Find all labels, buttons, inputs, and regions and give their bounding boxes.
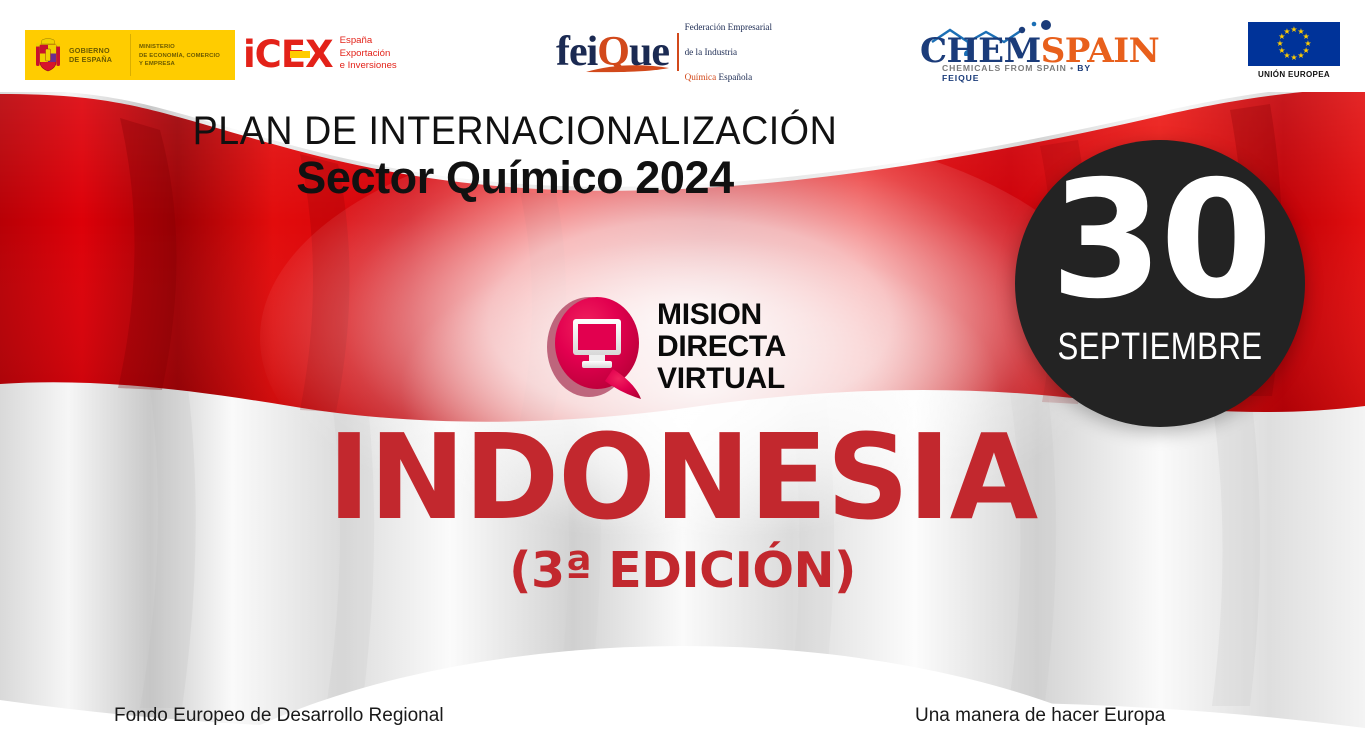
feique-wordmark: feiQue <box>556 31 669 73</box>
feique-swoosh-icon <box>584 63 694 75</box>
eu-star-icon: ★ <box>1290 54 1297 62</box>
country-edition: (3ª EDICIÓN) <box>0 542 1365 599</box>
union-europea-logo: ★★★★★★★★★★★★ UNIÓN EUROPEA <box>1248 22 1340 79</box>
date-month: SEPTIEMBRE <box>1041 326 1279 369</box>
eu-star-icon: ★ <box>1276 40 1283 48</box>
headline-block: PLAN DE INTERNACIONALIZACIÓN Sector Quím… <box>0 110 1030 203</box>
gobierno-de-espana-logo: GOBIERNO DE ESPAÑA MINISTERIO DE ECONOMÍ… <box>25 30 235 80</box>
country-name: INDONESIA <box>20 418 1344 536</box>
sponsor-logo-bar: GOBIERNO DE ESPAÑA MINISTERIO DE ECONOMÍ… <box>0 0 1365 92</box>
chemspain-tagline: CHEMICALS FROM SPAIN • BY FEIQUE <box>942 63 1120 83</box>
speech-bubble-graphic <box>545 291 649 403</box>
eu-star-icon: ★ <box>1278 47 1285 55</box>
poster-banner: GOBIERNO DE ESPAÑA MINISTERIO DE ECONOMÍ… <box>0 0 1365 754</box>
icex-wordmark: iCEX <box>243 36 333 73</box>
eu-flag-icon: ★★★★★★★★★★★★ <box>1248 22 1340 66</box>
mission-logo-block: MISION DIRECTA VIRTUAL <box>545 288 835 406</box>
date-day: 30 <box>1015 160 1305 322</box>
date-badge: 30 SEPTIEMBRE <box>1015 140 1305 427</box>
plan-title: PLAN DE INTERNACIONALIZACIÓN <box>31 110 999 152</box>
icex-yellow-bar <box>290 51 310 58</box>
footer-right-text: Una manera de hacer Europa <box>915 705 1165 727</box>
feique-tagline: Federación Empresarial de la Industria Q… <box>685 9 773 95</box>
icex-tagline: España Exportación e Inversiones <box>340 35 397 73</box>
icex-logo: iCEX España Exportación e Inversiones <box>243 30 397 78</box>
union-europea-caption: UNIÓN EUROPEA <box>1248 70 1340 79</box>
country-block: INDONESIA (3ª EDICIÓN) <box>0 418 1365 599</box>
eu-star-icon: ★ <box>1297 52 1304 60</box>
eu-star-icon: ★ <box>1283 28 1290 36</box>
sector-subtitle: Sector Químico 2024 <box>0 154 1030 203</box>
logo-divider <box>130 34 131 76</box>
spain-coat-of-arms-icon <box>33 36 63 74</box>
mission-label: MISION DIRECTA VIRTUAL <box>657 299 786 394</box>
gobierno-label: GOBIERNO DE ESPAÑA <box>69 46 112 64</box>
footer-left-text: Fondo Europeo de Desarrollo Regional <box>114 705 444 727</box>
chemspain-logo: CHEMSPAIN CHEMICALS FROM SPAIN • BY FEIQ… <box>920 20 1120 84</box>
ministerio-label: MINISTERIO DE ECONOMÍA, COMERCIO Y EMPRE… <box>139 43 220 69</box>
feique-logo: feiQue Federación Empresarial de la Indu… <box>556 24 772 80</box>
footer-block: Fondo Europeo de Desarrollo Regional Una… <box>0 705 1365 754</box>
